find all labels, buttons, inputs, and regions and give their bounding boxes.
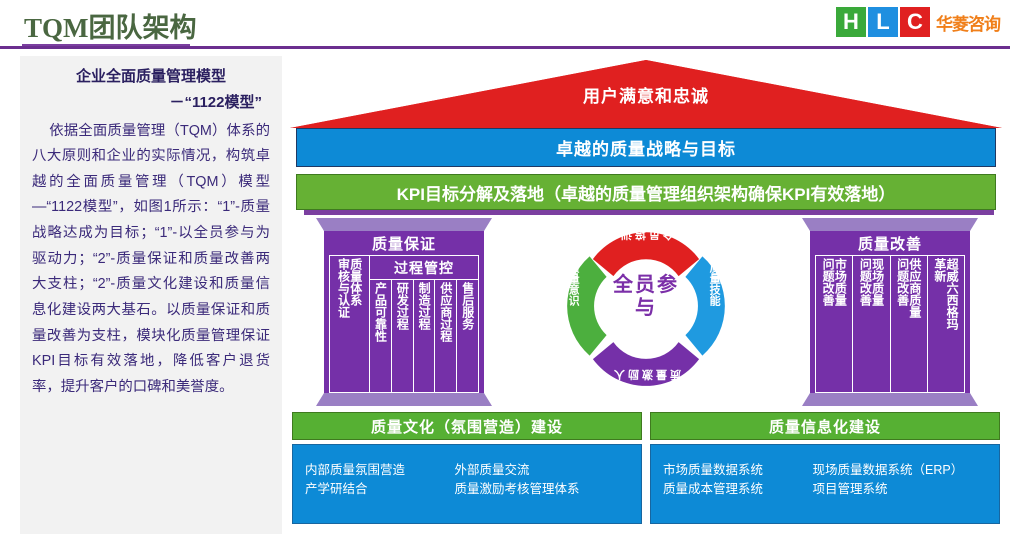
cell-supplier-process: 供应商过程 xyxy=(435,280,457,392)
base-right-item-2: 质量成本管理系统 xyxy=(663,480,813,499)
pillar-right-cap-bottom xyxy=(802,393,978,406)
process-control-title: 过程管控 xyxy=(370,256,478,280)
base-left-column-1: 内部质量氛围营造 产学研结合 xyxy=(305,461,455,523)
wheel-arc-label-training: 全员培训 xyxy=(604,227,688,243)
pillar-left-cap-top xyxy=(316,218,492,231)
cell-label-innovation: 革新 xyxy=(934,258,946,282)
base-left-item-1: 内部质量氛围营造 xyxy=(305,461,455,480)
base-right-title: 质量信息化建设 xyxy=(650,412,1000,440)
pillar-quality-assurance: 质量保证 质量体系 审核与认证 过程管控 产品可靠性 研发过程 制造过程 供应商… xyxy=(316,218,492,406)
pillar-left-grid: 质量体系 审核与认证 过程管控 产品可靠性 研发过程 制造过程 供应商过程 售后… xyxy=(329,255,479,393)
cell-supplier-quality: 供应商质量 问题改善 xyxy=(891,256,928,392)
pillar-right-cap-top xyxy=(802,218,978,231)
base-left-item-4: 质量激励考核管理体系 xyxy=(455,480,631,499)
cell-onsite-quality: 现场质量 问题改善 xyxy=(853,256,890,392)
logo-letter-l: L xyxy=(868,7,898,37)
cell-label-product-reliability: 产品可靠性 xyxy=(374,282,386,342)
base-right-item-4: 项目管理系统 xyxy=(813,480,989,499)
cell-market-quality: 市场质量 问题改善 xyxy=(816,256,853,392)
base-quality-informatization: 质量信息化建设 市场质量数据系统 质量成本管理系统 现场质量数据系统（ERP） … xyxy=(650,412,1000,526)
pillar-left-cap-bottom xyxy=(316,393,492,406)
base-left-title: 质量文化（氛围营造）建设 xyxy=(292,412,642,440)
base-left-item-3: 外部质量交流 xyxy=(455,461,631,480)
header-divider xyxy=(0,46,1010,49)
wheel-arc-label-incentive: 质量激励人 xyxy=(604,367,688,383)
cell-manufacturing-process: 制造过程 xyxy=(414,280,436,392)
logo-letter-l-text: L xyxy=(876,11,889,33)
sidebar-body-text: 依据全面质量管理（TQM）体系的八大原则和企业的实际情况，构筑卓越的全面质量管理… xyxy=(32,119,270,401)
logo-company-name: 华菱咨询 xyxy=(936,10,1000,35)
page-header: TQM团队架构 H L C 华菱咨询 xyxy=(0,0,1010,48)
logo-letter-h-text: H xyxy=(843,11,859,33)
cell-label-market-quality: 市场质量 xyxy=(834,258,846,306)
full-participation-wheel: 全员参与 全员培训 质量技能 质量激励人 质量意识 xyxy=(556,216,736,396)
sidebar-title: 企业全面质量管理模型 xyxy=(32,66,270,89)
strategy-bar: 卓越的质量战略与目标 xyxy=(296,128,996,167)
base-right-column-1: 市场质量数据系统 质量成本管理系统 xyxy=(663,461,813,523)
pillar-quality-improvement: 质量改善 市场质量 问题改善 现场质量 问题改善 供应商质量 问题改善 超威六西… xyxy=(802,218,978,406)
kpi-bar-label: KPI目标分解及落地（卓越的质量管理组织架构确保KPI有效落地） xyxy=(397,180,896,205)
pillar-right-grid: 市场质量 问题改善 现场质量 问题改善 供应商质量 问题改善 超威六西格玛 革新 xyxy=(815,255,965,393)
cell-product-reliability: 产品可靠性 xyxy=(370,280,392,392)
logo-letter-c-text: C xyxy=(907,11,923,33)
cell-six-sigma: 超威六西格玛 革新 xyxy=(928,256,964,392)
process-control-block: 过程管控 产品可靠性 研发过程 制造过程 供应商过程 售后服务 xyxy=(370,256,478,392)
base-quality-culture: 质量文化（氛围营造）建设 内部质量氛围营造 产学研结合 外部质量交流 质量激励考… xyxy=(292,412,642,526)
cell-label-onsite-quality-issue: 问题改善 xyxy=(859,258,871,306)
strategy-bar-label: 卓越的质量战略与目标 xyxy=(556,135,736,160)
base-right-item-1: 市场质量数据系统 xyxy=(663,461,813,480)
cell-label-onsite-quality: 现场质量 xyxy=(871,258,883,306)
pillar-right-title: 质量改善 xyxy=(810,231,970,255)
sidebar-subtitle: －“1122模型” xyxy=(32,91,270,115)
cell-label-manufacturing-process: 制造过程 xyxy=(418,282,430,330)
kpi-bar: KPI目标分解及落地（卓越的质量管理组织架构确保KPI有效落地） xyxy=(296,174,996,210)
cell-label-rnd-process: 研发过程 xyxy=(396,282,408,330)
cell-label-quality-system: 质量体系 xyxy=(350,258,362,392)
cell-label-after-sales-service: 售后服务 xyxy=(461,282,473,330)
wheel-center-label: 全员参与 xyxy=(606,274,686,320)
base-left-body: 内部质量氛围营造 产学研结合 外部质量交流 质量激励考核管理体系 xyxy=(292,444,642,524)
wheel-arc-label-skills: 质量技能 xyxy=(708,262,720,306)
base-left-item-2: 产学研结合 xyxy=(305,480,455,499)
cell-label-six-sigma: 超威六西格玛 xyxy=(946,258,958,330)
roof-label: 用户满意和忠诚 xyxy=(290,82,1002,107)
base-left-column-2: 外部质量交流 质量激励考核管理体系 xyxy=(455,461,631,523)
company-logo: H L C 华菱咨询 xyxy=(836,6,1000,38)
tqm-model-diagram: 用户满意和忠诚 卓越的质量战略与目标 KPI目标分解及落地（卓越的质量管理组织架… xyxy=(290,56,1002,536)
cell-label-supplier-process: 供应商过程 xyxy=(440,282,452,342)
cell-quality-system-certification: 质量体系 审核与认证 xyxy=(330,256,370,392)
cell-rnd-process: 研发过程 xyxy=(392,280,414,392)
pillar-left-title: 质量保证 xyxy=(324,231,484,255)
base-right-body: 市场质量数据系统 质量成本管理系统 现场质量数据系统（ERP） 项目管理系统 xyxy=(650,444,1000,524)
process-control-cells: 产品可靠性 研发过程 制造过程 供应商过程 售后服务 xyxy=(370,280,478,392)
cell-label-supplier-quality: 供应商质量 xyxy=(909,258,921,318)
base-right-item-3: 现场质量数据系统（ERP） xyxy=(813,461,989,480)
cell-after-sales-service: 售后服务 xyxy=(457,280,478,392)
page-title: TQM团队架构 xyxy=(24,6,197,45)
cell-label-audit-certification: 审核与认证 xyxy=(337,258,349,392)
cell-label-market-quality-issue: 问题改善 xyxy=(822,258,834,306)
sidebar-panel: 企业全面质量管理模型 －“1122模型” 依据全面质量管理（TQM）体系的八大原… xyxy=(20,56,282,534)
wheel-arc-label-awareness: 质量意识 xyxy=(567,262,579,306)
cell-label-supplier-quality-issue: 问题改善 xyxy=(896,258,908,306)
logo-letter-h: H xyxy=(836,7,866,37)
base-right-column-2: 现场质量数据系统（ERP） 项目管理系统 xyxy=(813,461,989,523)
kpi-bar-shadow xyxy=(304,210,994,215)
logo-letter-c: C xyxy=(900,7,930,37)
